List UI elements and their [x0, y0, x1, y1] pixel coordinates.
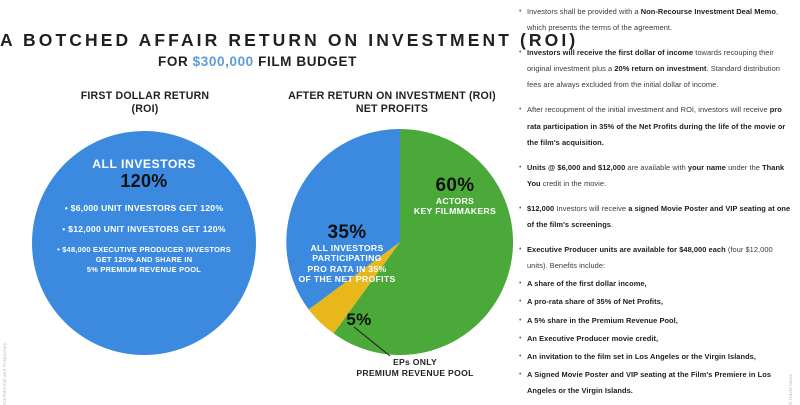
- confidentiality-notice: Confidential and Proprietary: [2, 342, 7, 405]
- pie-label-investors-percent: 35%: [292, 222, 402, 243]
- list-item: • $12,000 UNIT INVESTORS GET 120%: [38, 224, 250, 234]
- pie-label-investors-line4: OF THE NET PROFITS: [292, 274, 402, 284]
- left-column-heading-line1: FIRST DOLLAR RETURN: [81, 90, 210, 102]
- note-emphasis: A pro-rata share of 35% of Net Profits,: [527, 297, 663, 306]
- note-item: •A 5% share in the Premium Revenue Pool,: [519, 313, 791, 329]
- note-plain: under the: [726, 163, 762, 172]
- note-emphasis: A 5% share in the Premium Revenue Pool,: [527, 316, 678, 325]
- bullet-icon: •: [519, 102, 527, 150]
- note-plain: credit in the movie.: [541, 179, 607, 188]
- bullet-icon: •: [519, 4, 527, 36]
- budget-amount: $300,000: [193, 54, 254, 69]
- left-column-heading: FIRST DOLLAR RETURN (ROI): [30, 90, 260, 115]
- note-item: •Executive Producer units are available …: [519, 242, 791, 274]
- list-item: • $6,000 UNIT INVESTORS GET 120%: [38, 203, 250, 213]
- note-text: A share of the first dollar income,: [527, 276, 791, 292]
- note-emphasis: An invitation to the film set in Los Ang…: [527, 352, 756, 361]
- note-text: An Executive Producer movie credit,: [527, 331, 791, 347]
- note-emphasis: A share of the first dollar income,: [527, 279, 647, 288]
- note-emphasis: Executive Producer units are available f…: [527, 245, 726, 254]
- note-plain: Investors will receive: [554, 204, 628, 213]
- pie-label-investors-line2: PARTICIPATING: [292, 253, 402, 263]
- pie-label-investors: 35% ALL INVESTORS PARTICIPATING PRO RATA…: [292, 222, 402, 285]
- callout-line2: PREMIUM REVENUE POOL: [320, 368, 510, 379]
- callout-line1: EPs ONLY: [320, 357, 510, 368]
- note-emphasis: An Executive Producer movie credit,: [527, 334, 658, 343]
- bullet-icon: •: [519, 160, 527, 192]
- note-text: $12,000 Investors will receive a signed …: [527, 201, 791, 233]
- bullet-icon: •: [519, 367, 527, 399]
- note-text: Investors will receive the first dollar …: [527, 45, 791, 93]
- left-pie-heading: ALL INVESTORS: [32, 157, 256, 171]
- note-text: Investors shall be provided with a Non-R…: [527, 4, 791, 36]
- right-column-heading-line1: AFTER RETURN ON INVESTMENT (ROI): [288, 90, 496, 102]
- bullet-icon: •: [519, 313, 527, 329]
- bullet-icon: •: [519, 331, 527, 347]
- bullet-icon: •: [519, 294, 527, 310]
- list-item: • $48,000 EXECUTIVE PRODUCER INVESTORS G…: [38, 245, 250, 275]
- note-emphasis: 20% return on investment: [614, 64, 706, 73]
- note-item: •A Signed Movie Poster and VIP seating a…: [519, 367, 791, 399]
- page-subtitle: FOR $300,000 FILM BUDGET: [0, 54, 515, 69]
- subtitle-prefix: FOR: [158, 54, 193, 69]
- left-column-heading-line2: (ROI): [30, 103, 260, 116]
- terms-notes-list: •Investors shall be provided with a Non-…: [519, 4, 791, 400]
- note-text: A 5% share in the Premium Revenue Pool,: [527, 313, 791, 329]
- bullet-icon: •: [519, 45, 527, 93]
- note-text: After recoupment of the initial investme…: [527, 102, 791, 150]
- note-emphasis: Investors will receive the first dollar …: [527, 48, 693, 57]
- pie-label-actors-line2: KEY FILMMAKERS: [392, 206, 518, 216]
- note-emphasis: your name: [688, 163, 726, 172]
- note-emphasis: Units @ $6,000 and $12,000: [527, 163, 625, 172]
- pie-label-investors-line3: PRO RATA IN 35%: [292, 264, 402, 274]
- list-item-line1: • $48,000 EXECUTIVE PRODUCER INVESTORS: [38, 245, 250, 255]
- note-item: •A pro-rata share of 35% of Net Profits,: [519, 294, 791, 310]
- note-text: A pro-rata share of 35% of Net Profits,: [527, 294, 791, 310]
- page-title: A BOTCHED AFFAIR RETURN ON INVESTMENT (R…: [0, 30, 515, 51]
- note-emphasis: Non-Recourse Investment Deal Memo: [641, 7, 776, 16]
- note-item: •Investors shall be provided with a Non-…: [519, 4, 791, 36]
- note-item: •After recoupment of the initial investm…: [519, 102, 791, 150]
- note-text: An invitation to the film set in Los Ang…: [527, 349, 791, 365]
- list-item-line3: 5% PREMIUM REVENUE POOL: [38, 265, 250, 275]
- note-text: A Signed Movie Poster and VIP seating at…: [527, 367, 791, 399]
- bullet-icon: •: [519, 276, 527, 292]
- first-dollar-return-pie: ALL INVESTORS 120% • $6,000 UNIT INVESTO…: [32, 131, 256, 355]
- pie-label-actors-percent: 60%: [392, 175, 518, 196]
- note-item: •An invitation to the film set in Los An…: [519, 349, 791, 365]
- subtitle-suffix: FILM BUDGET: [254, 54, 357, 69]
- note-text: Units @ $6,000 and $12,000 are available…: [527, 160, 791, 192]
- pie-label-actors: 60% ACTORS KEY FILMMAKERS: [392, 175, 518, 217]
- note-item: •Units @ $6,000 and $12,000 are availabl…: [519, 160, 791, 192]
- pie-label-investors-line1: ALL INVESTORS: [292, 243, 402, 253]
- note-plain: Investors shall be provided with a: [527, 7, 641, 16]
- bullet-icon: •: [519, 349, 527, 365]
- left-pie-bullet-list: • $6,000 UNIT INVESTORS GET 120% • $12,0…: [38, 203, 250, 275]
- copyright-notice: © David Mass: [788, 374, 793, 405]
- list-item-line2: GET 120% AND SHARE IN: [38, 255, 250, 265]
- note-item: •An Executive Producer movie credit,: [519, 331, 791, 347]
- note-emphasis: A Signed Movie Poster and VIP seating at…: [527, 370, 771, 395]
- right-column-heading-line2: NET PROFITS: [272, 103, 512, 116]
- left-pie-percent: 120%: [32, 171, 256, 192]
- bullet-icon: •: [519, 201, 527, 233]
- note-plain: are available with: [625, 163, 688, 172]
- note-item: •Investors will receive the first dollar…: [519, 45, 791, 93]
- right-column-heading: AFTER RETURN ON INVESTMENT (ROI) NET PRO…: [272, 90, 512, 115]
- callout-leader-line: [352, 325, 412, 361]
- note-plain: .: [611, 220, 613, 229]
- callout-premium-revenue-pool: EPs ONLY PREMIUM REVENUE POOL: [320, 357, 510, 379]
- note-emphasis: $12,000: [527, 204, 554, 213]
- bullet-icon: •: [519, 242, 527, 274]
- note-plain: After recoupment of the initial investme…: [527, 105, 770, 114]
- pie-label-actors-line1: ACTORS: [392, 196, 518, 206]
- infographic-page: A BOTCHED AFFAIR RETURN ON INVESTMENT (R…: [0, 0, 800, 400]
- chart-panel: A BOTCHED AFFAIR RETURN ON INVESTMENT (R…: [0, 0, 515, 400]
- note-item: •A share of the first dollar income,: [519, 276, 791, 292]
- note-item: •$12,000 Investors will receive a signed…: [519, 201, 791, 233]
- note-text: Executive Producer units are available f…: [527, 242, 791, 274]
